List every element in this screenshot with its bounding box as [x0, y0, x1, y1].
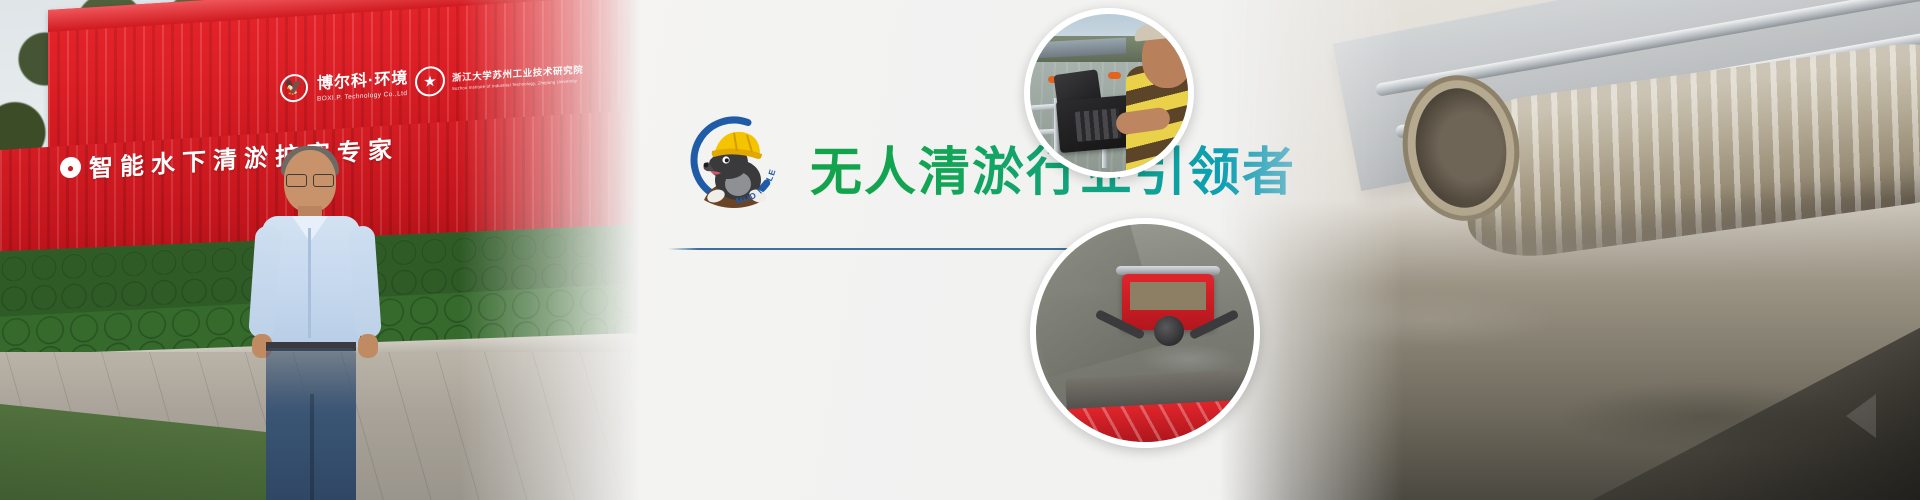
robot-wheel	[1154, 316, 1184, 346]
orange-buoy	[1108, 72, 1121, 79]
container-brand-cn: 博尔科·环境	[317, 64, 408, 94]
mole-badge-icon: ●	[60, 156, 81, 178]
person-hand-right	[358, 334, 378, 358]
engineer-person	[250, 150, 380, 500]
university-seal-icon: ★	[415, 65, 445, 97]
mud-mole-logo: MUD MOLE	[682, 108, 786, 212]
operator-with-remote-control-case	[1024, 8, 1194, 178]
eagle-seal-icon: 🦅	[280, 73, 308, 103]
red-dredging-robot-in-sludge	[1030, 218, 1260, 448]
person-trousers	[266, 348, 356, 500]
glasses-icon	[286, 174, 334, 185]
left-photo-container-engineer: 🦅 博尔科·环境 BOXI.P. Technology Co.,Ltd ★ 浙江…	[0, 0, 640, 500]
hero-banner: 🦅 博尔科·环境 BOXI.P. Technology Co.,Ltd ★ 浙江…	[0, 0, 1920, 500]
arrow-icon	[1846, 394, 1876, 438]
control-case-keypad	[1075, 108, 1121, 142]
sludge-discharge-pipe-photo	[1220, 0, 1920, 500]
mud-mole-logo-svg: MUD MOLE	[682, 108, 786, 212]
person-shirt-placket	[308, 228, 311, 338]
